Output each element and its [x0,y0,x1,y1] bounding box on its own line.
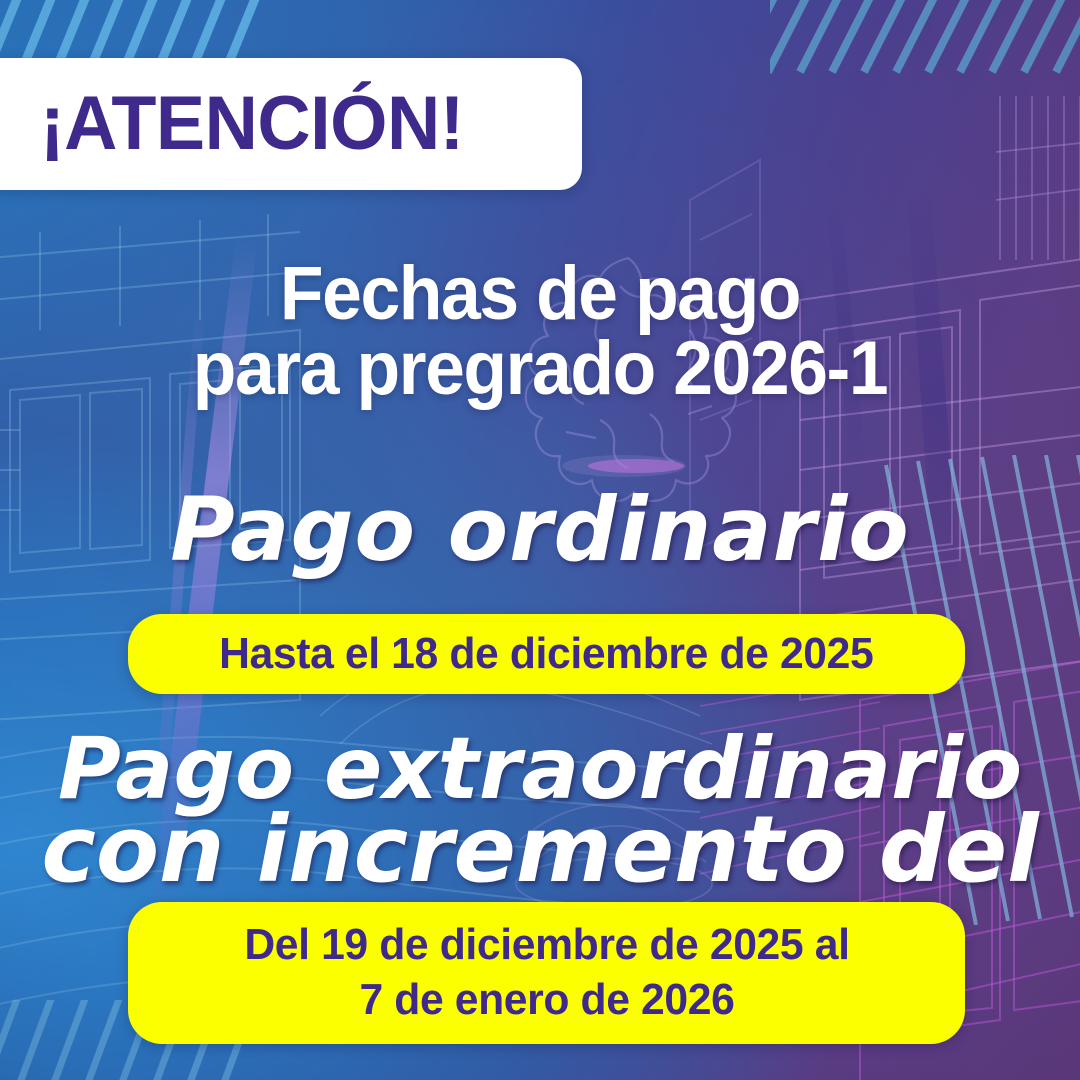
date-badge-line-1: Del 19 de diciembre de 2025 al [244,922,849,969]
date-badge-pago-extraordinario: Del 19 de diciembre de 2025 al 7 de ener… [128,902,965,1044]
page-title: Fechas de pago para pregrado 2026-1 [0,256,1080,406]
date-badge-line-1: Hasta el 18 de diciembre de 2025 [219,631,873,678]
section-heading-pago-ordinario: Pago ordinario [0,487,1080,573]
atencion-banner: ¡ATENCIÓN! [0,58,582,190]
page-title-line-1: Fechas de pago [32,256,1047,331]
poster-canvas: ¡ATENCIÓN! Fechas de pago para pregrado … [0,0,1080,1080]
date-badge-line-2: 7 de enero de 2026 [244,977,849,1024]
date-badge-pago-ordinario: Hasta el 18 de diciembre de 2025 [128,614,965,694]
page-title-line-2: para pregrado 2026-1 [32,331,1047,406]
atencion-label: ¡ATENCIÓN! [40,86,464,162]
